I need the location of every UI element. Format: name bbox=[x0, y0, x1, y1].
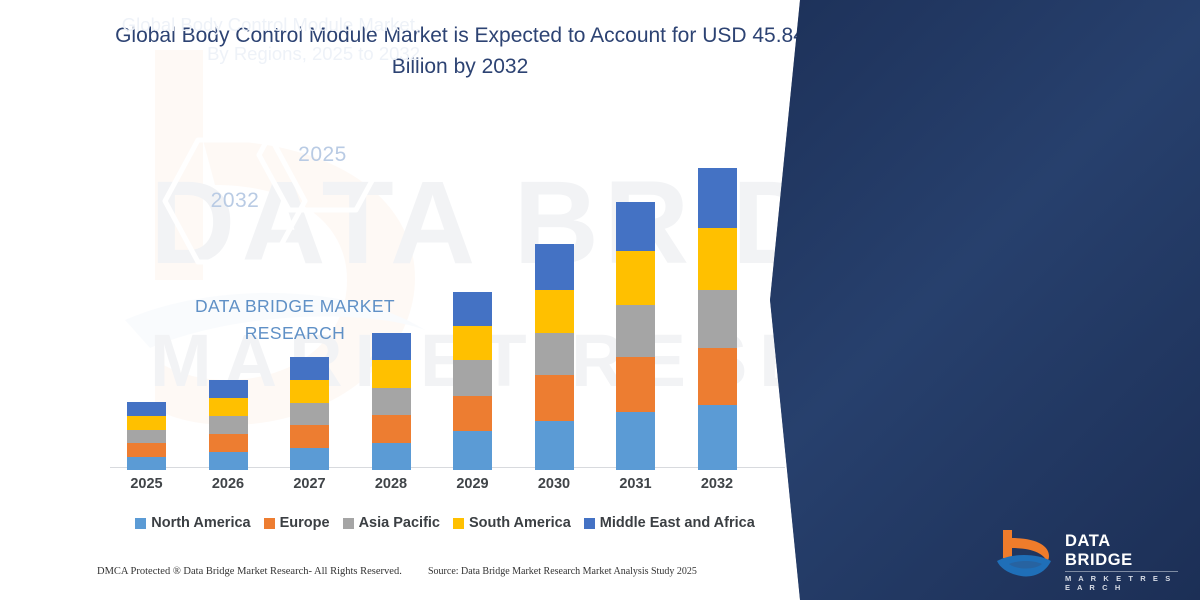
bar-segment-europe[interactable] bbox=[290, 425, 329, 448]
x-axis-label-2030: 2030 bbox=[519, 476, 589, 492]
bar-segment-middle-east-and-africa[interactable] bbox=[453, 292, 492, 326]
bar-2031[interactable] bbox=[616, 202, 655, 470]
x-axis-label-2027: 2027 bbox=[275, 476, 345, 492]
bar-2032[interactable] bbox=[698, 168, 737, 470]
bar-2030[interactable] bbox=[535, 244, 574, 470]
bar-segment-north-america[interactable] bbox=[209, 452, 248, 470]
legend-label: South America bbox=[469, 515, 571, 531]
bar-segment-europe[interactable] bbox=[698, 348, 737, 405]
legend-item-north-america[interactable]: North America bbox=[135, 515, 250, 531]
bar-segment-south-america[interactable] bbox=[209, 398, 248, 416]
infographic-canvas: DATA BRIDGE MARKET RESEARCH Global Body … bbox=[0, 0, 1200, 600]
bar-segment-asia-pacific[interactable] bbox=[453, 360, 492, 396]
legend-label: Europe bbox=[280, 515, 330, 531]
panel-title-line1: Global Body Control Module Market, bbox=[60, 10, 420, 39]
legend-label: Asia Pacific bbox=[359, 515, 440, 531]
legend-swatch-icon bbox=[343, 518, 354, 529]
bar-segment-europe[interactable] bbox=[616, 357, 655, 412]
legend-swatch-icon bbox=[135, 518, 146, 529]
hexagon-2032: 2032 bbox=[160, 135, 310, 267]
bar-segment-north-america[interactable] bbox=[372, 443, 411, 470]
footer: DMCA Protected ® Data Bridge Market Rese… bbox=[0, 566, 800, 592]
logo-name: DATA BRIDGE bbox=[1065, 532, 1180, 570]
bar-segment-north-america[interactable] bbox=[453, 431, 492, 470]
chart-legend: North AmericaEuropeAsia PacificSouth Ame… bbox=[100, 512, 790, 534]
bar-segment-south-america[interactable] bbox=[127, 416, 166, 430]
hexagon-2032-label: 2032 bbox=[211, 189, 260, 213]
x-axis-label-2032: 2032 bbox=[682, 476, 752, 492]
legend-item-middle-east-and-africa[interactable]: Middle East and Africa bbox=[584, 515, 755, 531]
hexagon-group: 2025 2032 bbox=[160, 95, 390, 235]
bar-segment-north-america[interactable] bbox=[698, 405, 737, 470]
bar-segment-south-america[interactable] bbox=[372, 360, 411, 388]
bar-segment-asia-pacific[interactable] bbox=[372, 388, 411, 415]
legend-swatch-icon bbox=[453, 518, 464, 529]
panel-brand-line2: RESEARCH bbox=[170, 320, 420, 347]
bar-segment-asia-pacific[interactable] bbox=[290, 403, 329, 425]
bar-segment-asia-pacific[interactable] bbox=[616, 305, 655, 357]
right-panel-background bbox=[760, 0, 1200, 600]
x-axis-labels: 20252026202720282029203020312032 bbox=[100, 476, 790, 500]
bar-2027[interactable] bbox=[290, 357, 329, 470]
bar-2029[interactable] bbox=[453, 292, 492, 470]
bar-segment-asia-pacific[interactable] bbox=[127, 430, 166, 443]
bar-segment-south-america[interactable] bbox=[290, 380, 329, 403]
bar-2026[interactable] bbox=[209, 380, 248, 470]
right-panel bbox=[760, 0, 1200, 600]
panel-brand-line1: DATA BRIDGE MARKET bbox=[170, 293, 420, 320]
bar-segment-middle-east-and-africa[interactable] bbox=[127, 402, 166, 416]
legend-item-south-america[interactable]: South America bbox=[453, 515, 571, 531]
bar-segment-middle-east-and-africa[interactable] bbox=[290, 357, 329, 380]
bar-segment-europe[interactable] bbox=[209, 434, 248, 452]
legend-label: North America bbox=[151, 515, 250, 531]
legend-swatch-icon bbox=[264, 518, 275, 529]
bar-segment-asia-pacific[interactable] bbox=[535, 333, 574, 375]
bar-segment-north-america[interactable] bbox=[127, 457, 166, 470]
bar-segment-europe[interactable] bbox=[535, 375, 574, 421]
bar-2028[interactable] bbox=[372, 333, 411, 470]
x-axis-label-2031: 2031 bbox=[601, 476, 671, 492]
bar-segment-middle-east-and-africa[interactable] bbox=[535, 244, 574, 290]
bar-segment-europe[interactable] bbox=[127, 443, 166, 457]
bar-segment-south-america[interactable] bbox=[453, 326, 492, 360]
bar-segment-asia-pacific[interactable] bbox=[209, 416, 248, 434]
bar-segment-middle-east-and-africa[interactable] bbox=[616, 202, 655, 251]
x-axis-label-2029: 2029 bbox=[438, 476, 508, 492]
legend-label: Middle East and Africa bbox=[600, 515, 755, 531]
x-axis-label-2028: 2028 bbox=[356, 476, 426, 492]
bar-segment-europe[interactable] bbox=[453, 396, 492, 431]
bridge-logo-icon bbox=[995, 528, 1057, 580]
legend-item-asia-pacific[interactable]: Asia Pacific bbox=[343, 515, 440, 531]
x-axis-label-2025: 2025 bbox=[112, 476, 182, 492]
bar-segment-europe[interactable] bbox=[372, 415, 411, 443]
legend-swatch-icon bbox=[584, 518, 595, 529]
bar-segment-south-america[interactable] bbox=[535, 290, 574, 333]
bar-segment-north-america[interactable] bbox=[616, 412, 655, 470]
bar-segment-south-america[interactable] bbox=[698, 228, 737, 290]
bar-segment-south-america[interactable] bbox=[616, 251, 655, 305]
data-bridge-logo: DATA BRIDGE M A R K E T R E S E A R C H bbox=[995, 528, 1180, 580]
bar-segment-asia-pacific[interactable] bbox=[698, 290, 737, 348]
bar-segment-north-america[interactable] bbox=[535, 421, 574, 470]
panel-title: Global Body Control Module Market, By Re… bbox=[60, 10, 420, 68]
x-axis-label-2026: 2026 bbox=[193, 476, 263, 492]
logo-divider bbox=[1065, 571, 1178, 572]
footer-source-text: Source: Data Bridge Market Research Mark… bbox=[428, 566, 697, 577]
logo-text-block: DATA BRIDGE M A R K E T R E S E A R C H bbox=[1065, 532, 1180, 592]
panel-brand-text: DATA BRIDGE MARKET RESEARCH bbox=[170, 293, 420, 347]
legend-item-europe[interactable]: Europe bbox=[264, 515, 330, 531]
bar-2025[interactable] bbox=[127, 402, 166, 470]
bar-segment-north-america[interactable] bbox=[290, 448, 329, 470]
bar-segment-middle-east-and-africa[interactable] bbox=[209, 380, 248, 398]
bar-segment-middle-east-and-africa[interactable] bbox=[698, 168, 737, 228]
logo-tagline: M A R K E T R E S E A R C H bbox=[1065, 574, 1180, 592]
footer-dmca-text: DMCA Protected ® Data Bridge Market Rese… bbox=[97, 566, 402, 577]
panel-title-line2: By Regions, 2025 to 2032 bbox=[60, 39, 420, 68]
